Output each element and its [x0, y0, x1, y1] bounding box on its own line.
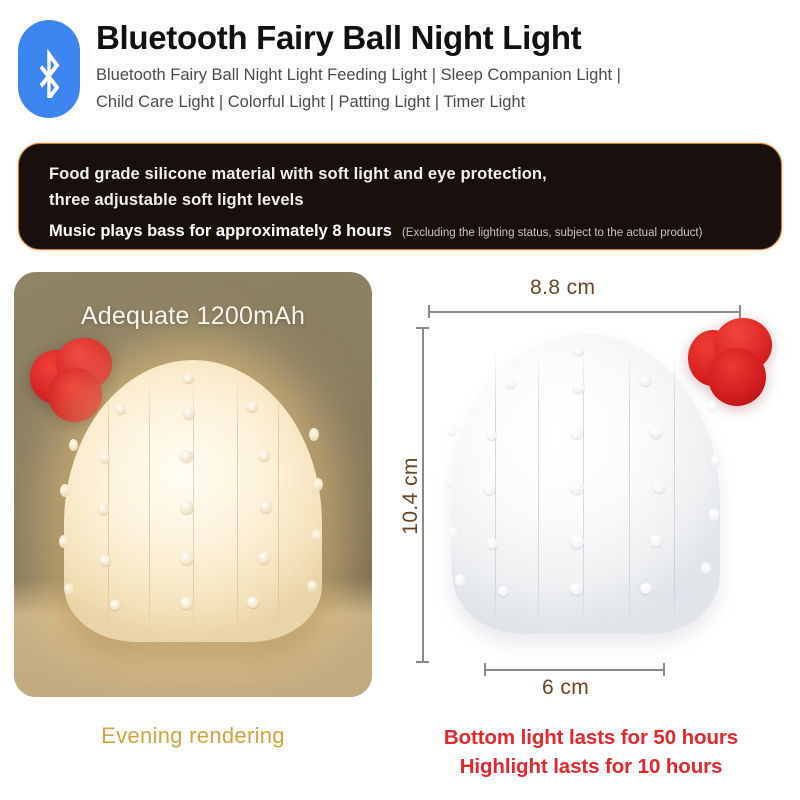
dimension-base-tick-right	[663, 663, 665, 676]
red-flower-cool	[686, 316, 778, 408]
dimension-base-line	[484, 669, 664, 671]
battery-life-line-1: Bottom light lasts for 50 hours	[392, 723, 790, 752]
evening-render-card: Adequate 1200mAh	[14, 272, 372, 697]
page-header: Bluetooth Fairy Ball Night Light Bluetoo…	[0, 0, 800, 140]
dimension-height-tick-bottom	[416, 661, 429, 663]
dimension-width-label: 8.8 cm	[530, 276, 595, 300]
product-infographic-page: Bluetooth Fairy Ball Night Light Bluetoo…	[0, 0, 800, 800]
evening-rendering-caption: Evening rendering	[14, 723, 372, 749]
night-light-product-unlit	[452, 334, 720, 634]
feature-banner: Food grade silicone material with soft l…	[18, 143, 782, 250]
banner-row-music: Music plays bass for approximately 8 hou…	[49, 222, 757, 241]
bluetooth-icon	[18, 20, 80, 118]
subtitle-line-2: Child Care Light | Colorful Light | Patt…	[96, 89, 621, 116]
banner-music-note: (Excluding the lighting status, subject …	[402, 227, 702, 239]
dimension-width-tick-right	[739, 305, 741, 318]
battery-life-line-2: Highlight lasts for 10 hours	[392, 752, 790, 781]
battery-capacity-label: Adequate 1200mAh	[14, 302, 372, 331]
dimension-height-tick-top	[416, 327, 429, 329]
dimension-width-tick-left	[428, 305, 430, 318]
dimension-diagram: 8.8 cm 10.4 cm 6 cm	[392, 272, 788, 702]
dimension-base-label: 6 cm	[542, 676, 589, 700]
subtitle-line-1: Bluetooth Fairy Ball Night Light Feeding…	[96, 62, 621, 89]
battery-life-caption: Bottom light lasts for 50 hours Highligh…	[392, 723, 790, 781]
banner-line-1: Food grade silicone material with soft l…	[49, 162, 757, 188]
page-title: Bluetooth Fairy Ball Night Light	[96, 20, 621, 57]
banner-line-2: three adjustable soft light levels	[49, 188, 757, 214]
dimension-base-tick-left	[484, 663, 486, 676]
banner-music-text: Music plays bass for approximately 8 hou…	[49, 222, 392, 241]
dimension-width-line	[428, 311, 740, 313]
header-text-block: Bluetooth Fairy Ball Night Light Bluetoo…	[96, 18, 621, 115]
dimension-height-label: 10.4 cm	[399, 441, 423, 551]
product-subtitle: Bluetooth Fairy Ball Night Light Feeding…	[96, 62, 621, 115]
